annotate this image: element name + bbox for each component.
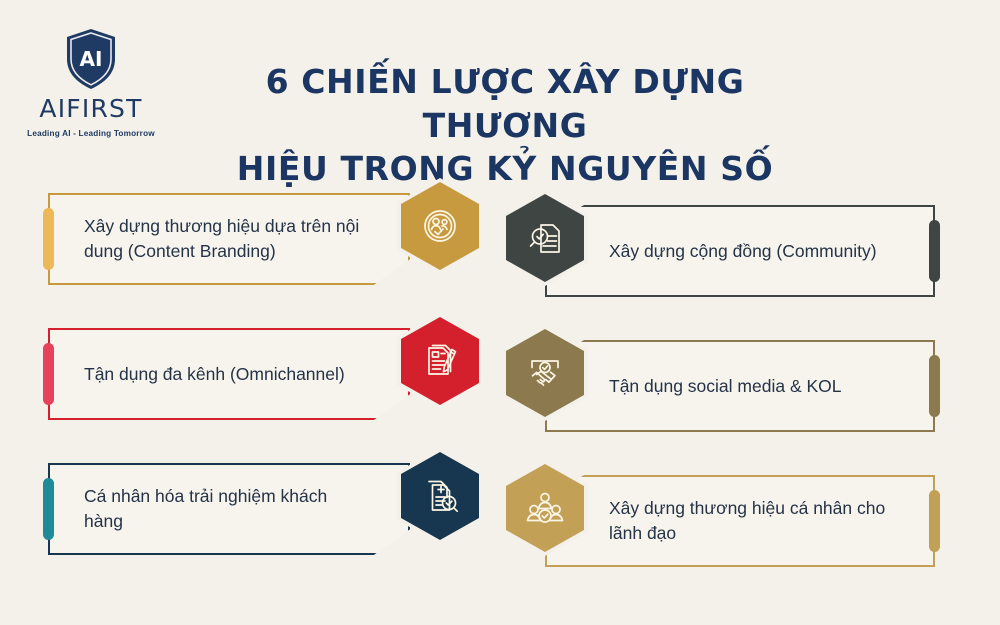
strategy-card-label: Xây dựng cộng đồng (Community) [547,239,897,264]
logo-aifirst: AI AIFIRST Leading AI - Leading Tomorrow [16,28,166,140]
handshake-check-icon [502,325,588,421]
strategy-card-2[interactable]: Tận dụng đa kênh (Omnichannel) [48,328,410,420]
people-check-badge-icon [397,178,483,274]
strategy-card-3[interactable]: Cá nhân hóa trải nghiệm khách hàng [48,463,410,555]
logo-tagline: Leading AI - Leading Tomorrow [27,129,155,138]
strategy-card-accent-bar [43,208,54,270]
team-group-check-icon [502,460,588,556]
strategy-card-accent-bar [929,220,940,282]
logo-mark-text: AI [80,47,103,71]
page-title-line-1: 6 CHIẾN LƯỢC XÂY DỰNG THƯƠNG [180,60,830,147]
strategy-card-label: Tận dụng social media & KOL [547,374,862,399]
strategy-card-1[interactable]: Xây dựng thương hiệu dựa trên nội dung (… [48,193,410,285]
page-title: 6 CHIẾN LƯỢC XÂY DỰNG THƯƠNG HIỆU TRONG … [180,60,830,191]
strategy-card-accent-bar [43,478,54,540]
strategy-card-label: Tận dụng đa kênh (Omnichannel) [50,362,387,387]
logo-wordmark: AIFIRST [39,94,142,123]
strategy-card-label: Xây dựng thương hiệu dựa trên nội dung (… [50,214,408,264]
strategy-card-6[interactable]: Xây dựng thương hiệu cá nhân cho lãnh đạ… [545,475,935,567]
strategy-card-label: Xây dựng thương hiệu cá nhân cho lãnh đạ… [547,496,933,546]
document-plus-verified-icon [397,448,483,544]
strategy-card-accent-bar [929,355,940,417]
magnifier-check-document-icon [502,190,588,286]
page-title-line-2: HIỆU TRONG KỶ NGUYÊN SỐ [180,147,830,191]
strategy-card-label: Cá nhân hóa trải nghiệm khách hàng [50,484,408,534]
shield-icon: AI [64,28,118,90]
strategy-card-accent-bar [929,490,940,552]
strategy-card-5[interactable]: Tận dụng social media & KOL [545,340,935,432]
strategy-card-accent-bar [43,343,54,405]
document-pencil-icon [397,313,483,409]
strategy-card-4[interactable]: Xây dựng cộng đồng (Community) [545,205,935,297]
